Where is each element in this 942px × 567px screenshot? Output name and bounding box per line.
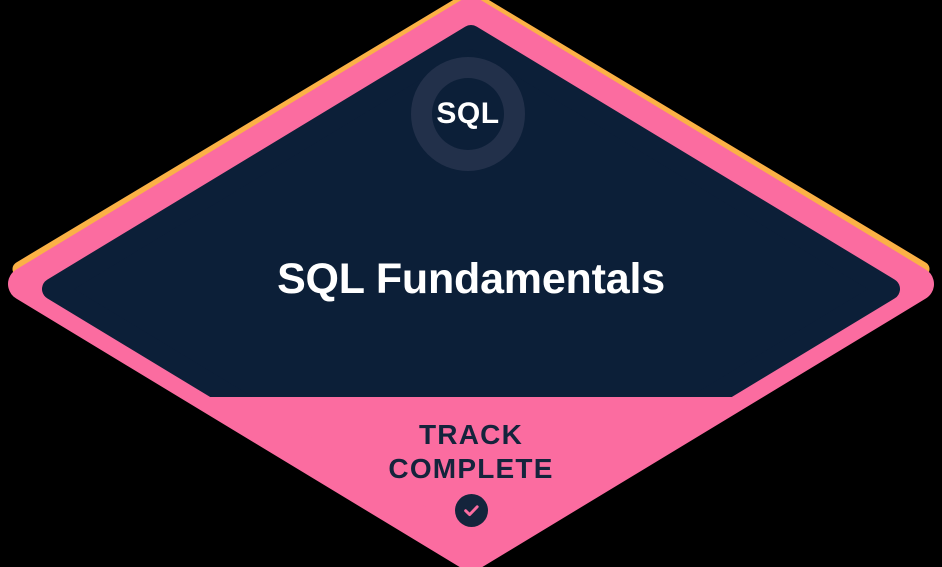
status-label-line-1: TRACK: [0, 418, 942, 452]
sql-emblem-label: SQL: [436, 99, 499, 129]
status-label-line-2: COMPLETE: [0, 452, 942, 486]
track-badge-card[interactable]: SQL SQL Fundamentals TRACK COMPLETE: [0, 0, 942, 567]
sql-circle-emblem: SQL: [411, 57, 525, 171]
check-circle-icon: [455, 494, 488, 527]
page-title: SQL Fundamentals: [0, 255, 942, 303]
check-mark-icon: [462, 501, 481, 520]
status-badge: TRACK COMPLETE: [0, 418, 942, 527]
